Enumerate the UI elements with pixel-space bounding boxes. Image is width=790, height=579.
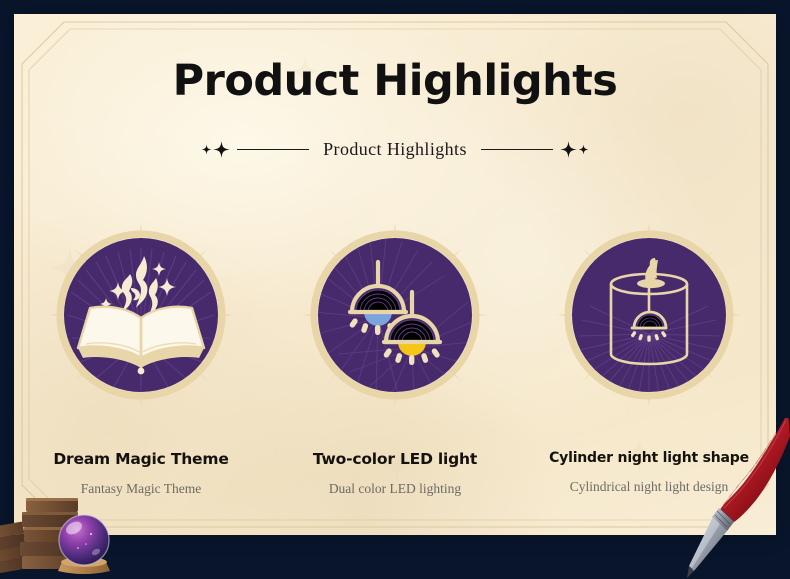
feature-subtitle: Cylindrical night light design <box>570 479 729 495</box>
feature-card-two-color-led-light[interactable]: Two-color LED light Dual color LED light… <box>268 222 522 497</box>
feature-title: Cylinder night light shape <box>549 450 749 466</box>
medallion-cylinder-night-light <box>556 222 742 408</box>
page-title: Product Highlights <box>0 60 790 103</box>
feature-title: Two-color LED light <box>313 450 477 468</box>
sparkle-large-icon <box>560 141 577 158</box>
feature-subtitle: Fantasy Magic Theme <box>81 481 201 497</box>
medallion-open-magic-book <box>48 222 234 408</box>
divider-sparkles-right <box>553 141 596 158</box>
divider-rule-right <box>481 149 553 151</box>
product-highlights-banner: Product Highlights Product Highlights <box>0 0 790 579</box>
subtitle-divider: Product Highlights <box>0 139 790 160</box>
sparkle-small-icon <box>578 144 589 155</box>
sparkle-small-icon <box>201 144 212 155</box>
two-pendant-lamps-icon <box>302 222 488 408</box>
feature-card-dream-magic-theme[interactable]: Dream Magic Theme Fantasy Magic Theme <box>14 222 268 497</box>
divider-label: Product Highlights <box>309 139 481 160</box>
sparkle-large-icon <box>213 141 230 158</box>
open-magic-book-icon <box>48 222 234 408</box>
feature-subtitle: Dual color LED lighting <box>329 481 461 497</box>
feature-title: Dream Magic Theme <box>53 450 228 468</box>
feature-card-cylinder-night-light-shape[interactable]: Cylinder night light shape Cylindrical n… <box>522 222 776 497</box>
feature-list: Dream Magic Theme Fantasy Magic Theme <box>14 222 776 497</box>
cylinder-night-light-icon <box>556 222 742 408</box>
divider-rule-left <box>237 149 309 151</box>
medallion-two-pendant-lamps <box>302 222 488 408</box>
divider-sparkles-left <box>194 141 237 158</box>
